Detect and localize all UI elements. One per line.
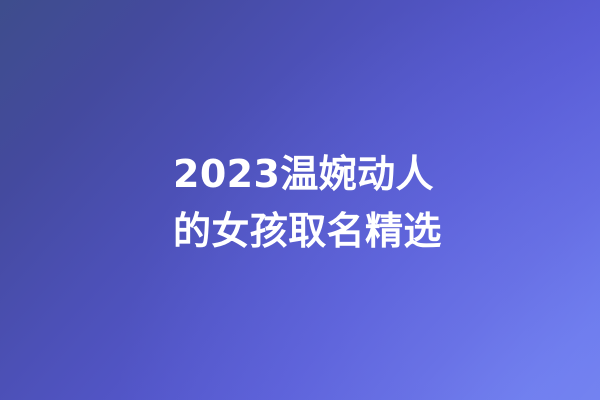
title-line-2: 的女孩取名精选	[173, 203, 573, 260]
title-cover-card: 2023温婉动人 的女孩取名精选	[0, 0, 600, 400]
title-line-1: 2023温婉动人	[173, 146, 573, 203]
page-title: 2023温婉动人 的女孩取名精选	[173, 146, 573, 260]
